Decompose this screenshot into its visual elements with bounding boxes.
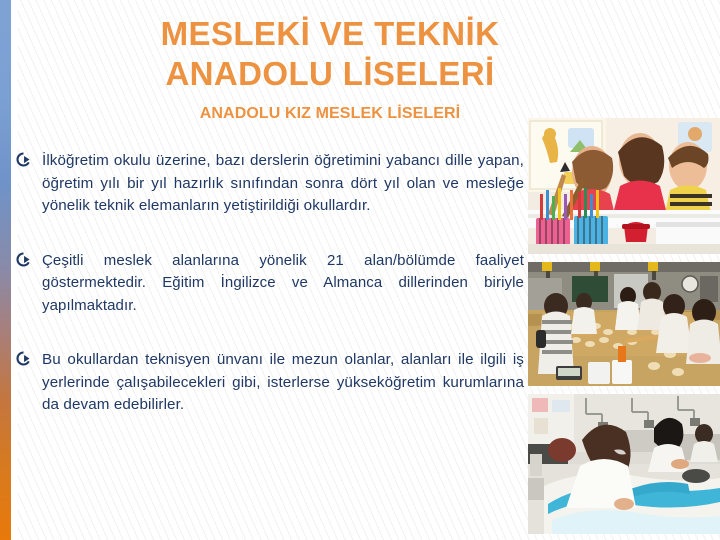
bullet-text: İlköğretim okulu üzerine, bazı derslerin… xyxy=(42,150,524,218)
photo-sewing-workshop xyxy=(528,394,720,534)
bullet-list: İlköğretim okulu üzerine, bazı derslerin… xyxy=(16,150,524,417)
left-accent-gradient-bar xyxy=(0,0,11,540)
photo-art-class xyxy=(528,118,720,254)
list-item: Çeşitli meslek alanlarına yönelik 21 ala… xyxy=(16,250,524,318)
circle-arrow-bullet-icon xyxy=(16,349,42,366)
bullet-text: Çeşitli meslek alanlarına yönelik 21 ala… xyxy=(42,250,524,318)
slide-root: MESLEKİ VE TEKNİK ANADOLU LİSELERİ ANADO… xyxy=(0,0,720,540)
slide-title-line-2: ANADOLU LİSELERİ xyxy=(70,54,590,94)
title-block: MESLEKİ VE TEKNİK ANADOLU LİSELERİ ANADO… xyxy=(70,14,590,123)
bullet-text: Bu okullardan teknisyen ünvanı ile mezun… xyxy=(42,349,524,417)
list-item: Bu okullardan teknisyen ünvanı ile mezun… xyxy=(16,349,524,417)
circle-arrow-bullet-icon xyxy=(16,250,42,267)
photo-column xyxy=(528,0,720,540)
list-item: İlköğretim okulu üzerine, bazı derslerin… xyxy=(16,150,524,218)
circle-arrow-bullet-icon xyxy=(16,150,42,167)
slide-title-line-1: MESLEKİ VE TEKNİK xyxy=(70,14,590,54)
photo-bakery-workshop xyxy=(528,262,720,386)
slide-subtitle: ANADOLU KIZ MESLEK LİSELERİ xyxy=(70,104,590,123)
